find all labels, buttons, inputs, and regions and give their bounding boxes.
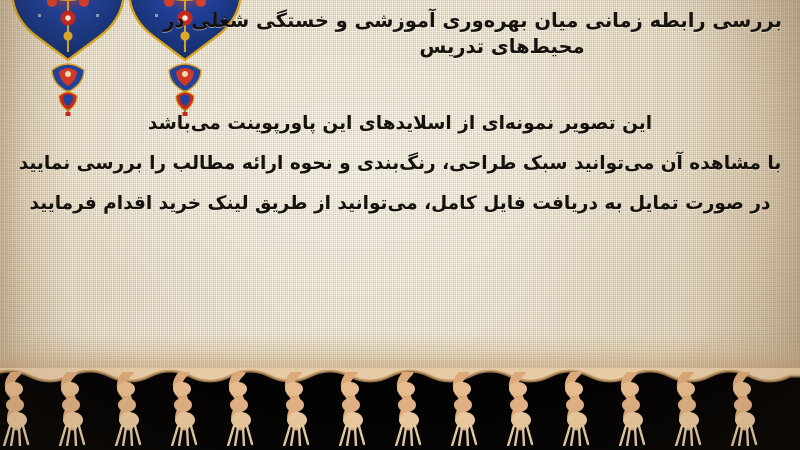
carpet-fringe-band — [0, 368, 800, 450]
title-line-2: محیط‌های تدریس — [222, 34, 782, 60]
fringe-tassel — [0, 372, 40, 450]
title-line-1: بررسی رابطه زمانی میان بهره‌وری آموزشی و… — [222, 8, 782, 34]
fringe-tassel — [554, 372, 600, 450]
fringe-tassel — [610, 372, 656, 450]
slide-canvas: بررسی رابطه زمانی میان بهره‌وری آموزشی و… — [0, 0, 800, 450]
fringe-tassel — [442, 372, 488, 450]
fringe-tassel — [50, 372, 96, 450]
fringe-tassel — [330, 372, 376, 450]
fringe-tassel — [218, 372, 264, 450]
body-line-3: در صورت تمایل به دریافت فایل کامل، می‌تو… — [14, 184, 786, 224]
fringe-tassel — [162, 372, 208, 450]
tassel-row — [0, 372, 800, 450]
fringe-tassel — [498, 372, 544, 450]
fringe-tassel — [386, 372, 432, 450]
body-line-1: این تصویر نمونه‌ای از اسلایدهای این پاور… — [14, 104, 786, 144]
fringe-tassel — [274, 372, 320, 450]
fringe-tassel — [666, 372, 712, 450]
slide-title: بررسی رابطه زمانی میان بهره‌وری آموزشی و… — [222, 8, 782, 60]
body-line-2: با مشاهده آن می‌توانید سبک طراحی، رنگ‌بن… — [14, 144, 786, 184]
fringe-tassel — [722, 372, 768, 450]
fringe-tassel — [106, 372, 152, 450]
slide-body: این تصویر نمونه‌ای از اسلایدهای این پاور… — [14, 104, 786, 224]
